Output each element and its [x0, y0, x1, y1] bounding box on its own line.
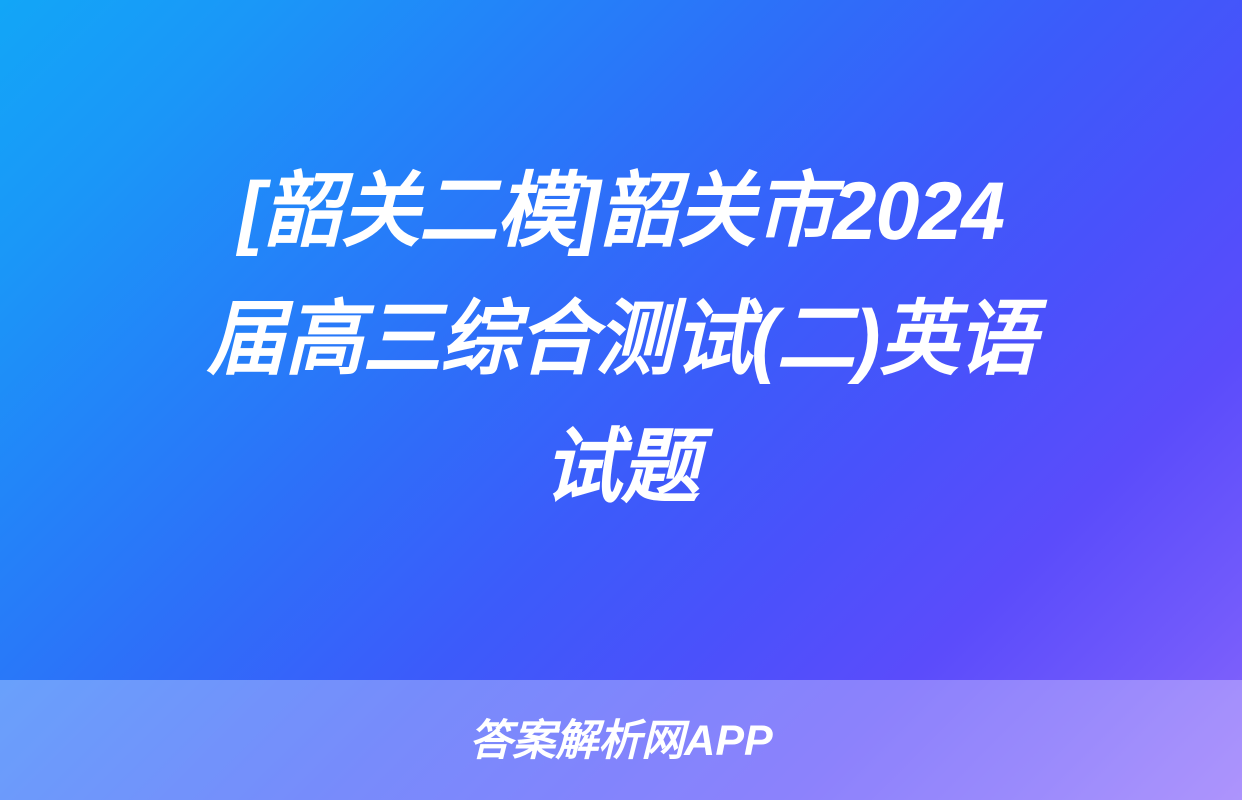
poster-title-line-3: 试题: [69, 404, 1173, 532]
app-wordmark: 答案解析网APP: [469, 720, 772, 763]
poster-canvas: [韶关二模]韶关市2024 届高三综合测试(二)英语 试题 答案解析网APP: [0, 0, 1242, 800]
poster-title-line-1: [韶关二模]韶关市2024: [69, 148, 1173, 276]
poster-title-line-2: 届高三综合测试(二)英语: [69, 276, 1173, 404]
footer-band: 答案解析网APP: [0, 680, 1242, 800]
poster-title-block: [韶关二模]韶关市2024 届高三综合测试(二)英语 试题: [0, 0, 1242, 680]
